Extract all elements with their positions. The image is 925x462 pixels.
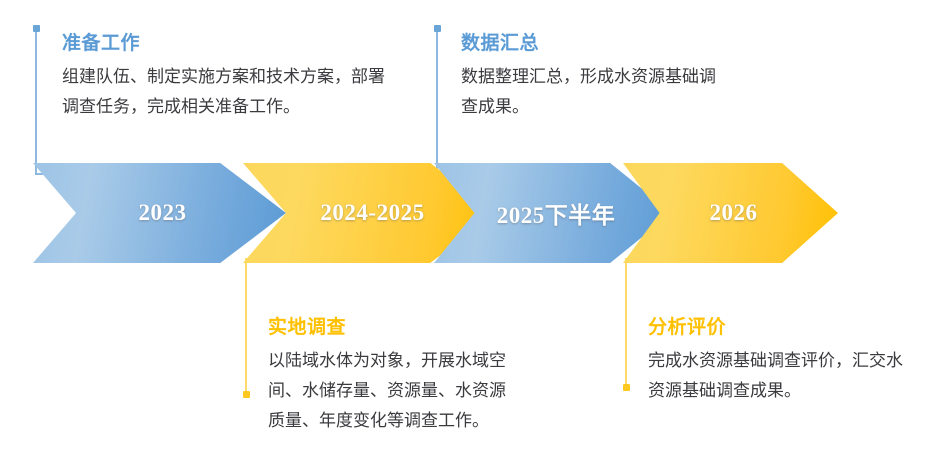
stage-description-3: 数据汇总 数据整理汇总，形成水资源基础调查成果。 [461, 28, 726, 122]
connector-line-vertical [625, 258, 627, 391]
timeline-arrow-4[interactable]: 2026 [623, 163, 838, 263]
stage-body-text: 组建队伍、制定实施方案和技术方案，部署调查任务，完成相关准备工作。 [62, 62, 392, 122]
connector-endpoint-dot [434, 25, 441, 32]
stage-body-text: 数据整理汇总，形成水资源基础调查成果。 [461, 62, 726, 122]
arrow-period-label: 2026 [623, 163, 838, 263]
connector-line-vertical [436, 25, 438, 173]
stage-body-text: 完成水资源基础调查评价，汇交水资源基础调查成果。 [648, 346, 910, 406]
connector-line-vertical [35, 25, 37, 175]
stage-description-2: 实地调查 以陆域水体为对象，开展水域空间、水储存量、资源量、水资源质量、年度变化… [268, 312, 516, 435]
stage-heading: 准备工作 [62, 28, 392, 55]
connector-endpoint-dot [33, 25, 40, 32]
stage-heading: 分析评价 [648, 312, 910, 339]
timeline-diagram: 2023 2024-2025 2025下半年 2026 准备工作 组建队伍、制定… [0, 0, 925, 462]
connector-endpoint-dot [243, 391, 250, 398]
stage-heading: 实地调查 [268, 312, 516, 339]
connector-endpoint-dot [623, 384, 630, 391]
connector-line-vertical [245, 258, 247, 398]
stage-description-4: 分析评价 完成水资源基础调查评价，汇交水资源基础调查成果。 [648, 312, 910, 406]
stage-description-1: 准备工作 组建队伍、制定实施方案和技术方案，部署调查任务，完成相关准备工作。 [62, 28, 392, 122]
stage-body-text: 以陆域水体为对象，开展水域空间、水储存量、资源量、水资源质量、年度变化等调查工作… [268, 346, 516, 435]
stage-heading: 数据汇总 [461, 28, 726, 55]
